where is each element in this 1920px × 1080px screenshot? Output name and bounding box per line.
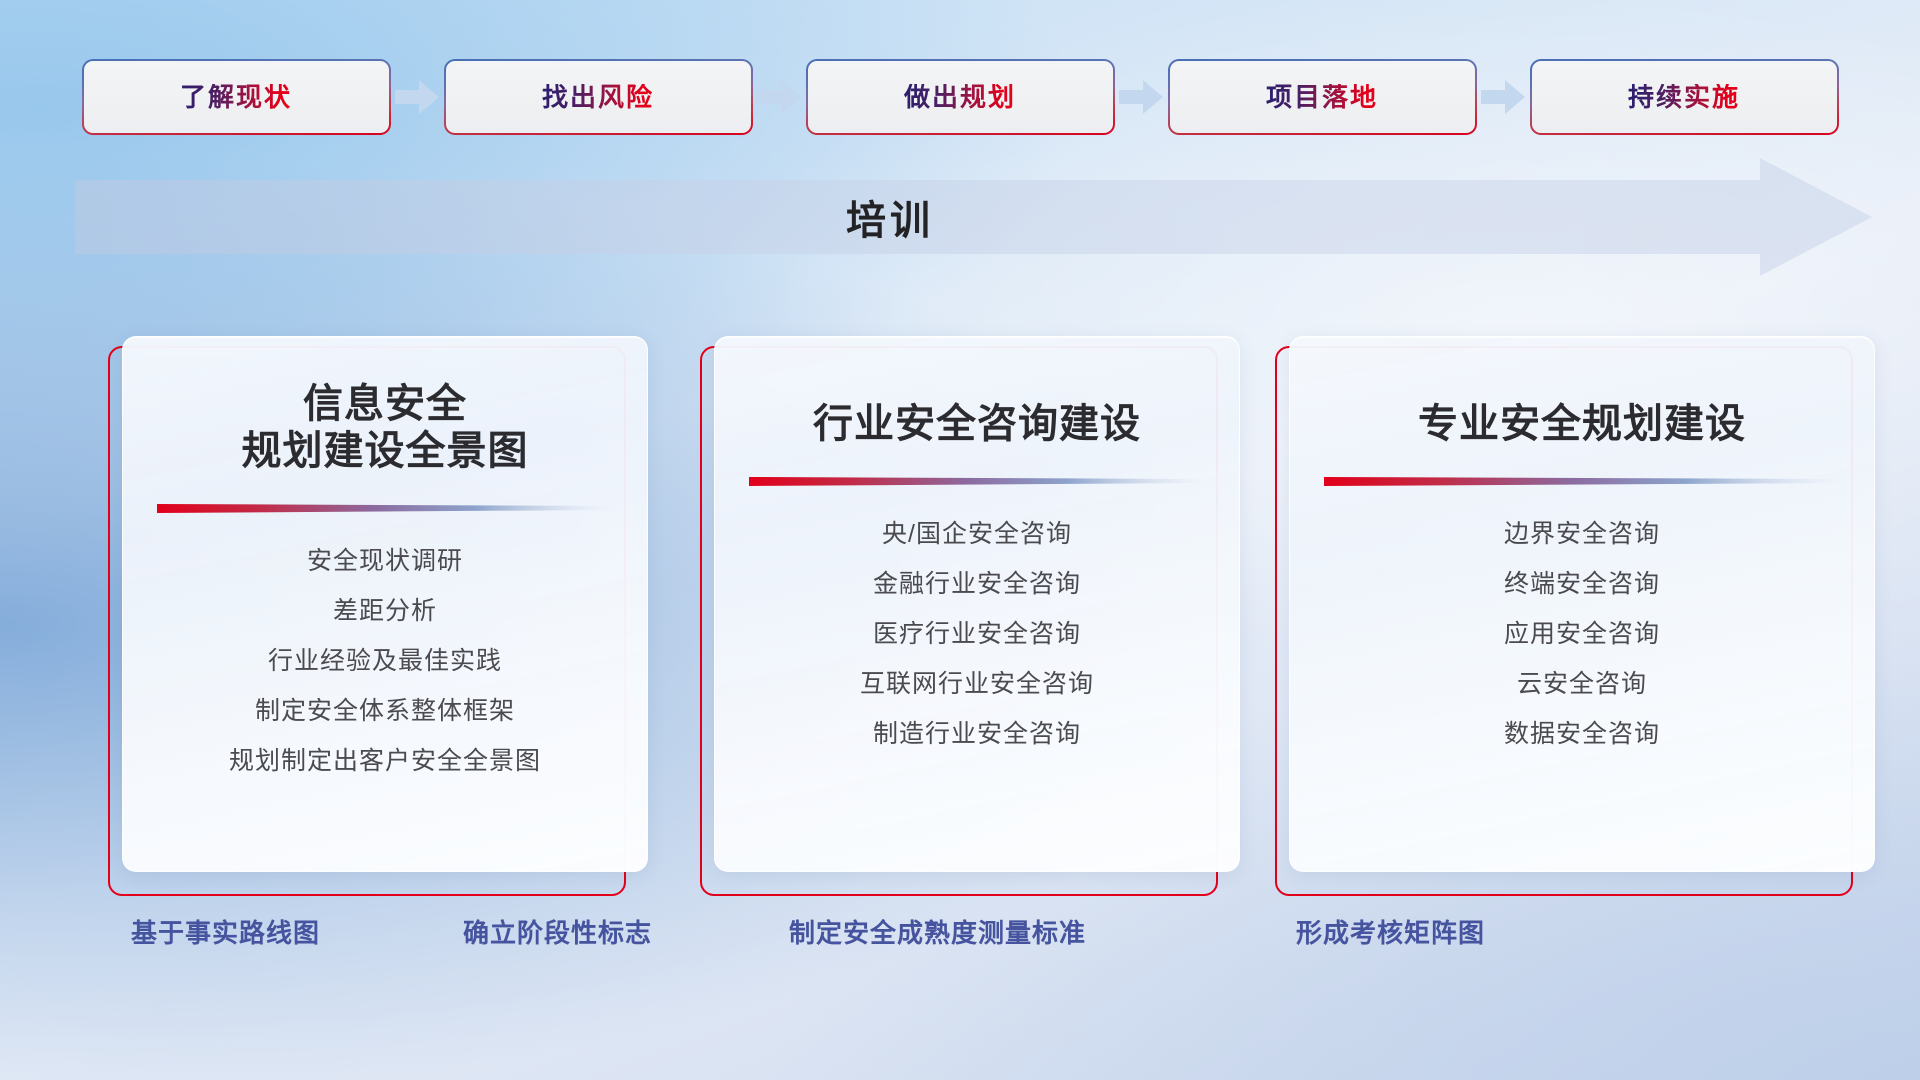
list-item: 差距分析: [147, 599, 623, 649]
training-banner: 培训: [0, 158, 1920, 276]
arrow-right-icon: [1475, 58, 1532, 136]
list-item: 规划制定出客户安全全景图: [147, 749, 623, 799]
card-row: 信息安全 规划建设全景图: [0, 336, 1920, 896]
gradient-wedge-divider: [749, 474, 1205, 492]
list-item: 制定安全体系整体框架: [147, 699, 623, 749]
list-item: 互联网行业安全咨询: [739, 672, 1215, 722]
list-item: 安全现状调研: [147, 549, 623, 599]
arrow-right-icon: [751, 58, 808, 136]
step-box-4[interactable]: 项目落地: [1170, 61, 1475, 133]
list-item: 应用安全咨询: [1314, 622, 1850, 672]
gradient-wedge-divider: [157, 501, 613, 519]
list-item: 金融行业安全咨询: [739, 572, 1215, 622]
card-item-list: 央/国企安全咨询 金融行业安全咨询 医疗行业安全咨询 互联网行业安全咨询 制造行…: [715, 492, 1239, 871]
card-professional-security-planning[interactable]: 专业安全规划建设: [1275, 336, 1875, 896]
arrow-right-icon: [1113, 58, 1170, 136]
card-item-list: 边界安全咨询 终端安全咨询 应用安全咨询 云安全咨询 数据安全咨询: [1290, 492, 1874, 871]
card-panel: 信息安全 规划建设全景图: [122, 336, 648, 872]
list-item: 央/国企安全咨询: [739, 522, 1215, 572]
card-title: 行业安全咨询建设: [715, 337, 1239, 448]
footnote-label: 基于事实路线图: [131, 920, 320, 946]
step-label: 持续实施: [1628, 84, 1740, 110]
footnote-label: 确立阶段性标志: [463, 920, 652, 946]
card-panel: 行业安全咨询建设: [714, 336, 1240, 872]
card-title: 信息安全 规划建设全景图: [123, 337, 647, 475]
footnote-label: 形成考核矩阵图: [1296, 920, 1485, 946]
list-item: 制造行业安全咨询: [739, 722, 1215, 772]
arrow-right-icon: [389, 58, 446, 136]
list-item: 终端安全咨询: [1314, 572, 1850, 622]
step-label: 找出风险: [542, 84, 654, 110]
step-label: 了解现状: [180, 84, 292, 110]
card-title: 专业安全规划建设: [1290, 337, 1874, 448]
card-industry-security-consulting[interactable]: 行业安全咨询建设: [700, 336, 1240, 896]
slide-canvas: 了解现状 找出风险 做出规划 项目落地 持续实施: [0, 0, 1920, 1080]
list-item: 医疗行业安全咨询: [739, 622, 1215, 672]
list-item: 行业经验及最佳实践: [147, 649, 623, 699]
process-step-row: 了解现状 找出风险 做出规划 项目落地 持续实施: [0, 58, 1920, 136]
footnote-row: 基于事实路线图 确立阶段性标志 制定安全成熟度测量标准 形成考核矩阵图: [0, 920, 1920, 980]
step-label: 项目落地: [1266, 84, 1378, 110]
card-information-security-blueprint[interactable]: 信息安全 规划建设全景图: [108, 336, 648, 896]
list-item: 数据安全咨询: [1314, 722, 1850, 772]
gradient-wedge-divider: [1324, 474, 1840, 492]
step-box-3[interactable]: 做出规划: [808, 61, 1113, 133]
step-box-5[interactable]: 持续实施: [1532, 61, 1837, 133]
banner-label: 培训: [0, 158, 1780, 276]
card-item-list: 安全现状调研 差距分析 行业经验及最佳实践 制定安全体系整体框架 规划制定出客户…: [123, 519, 647, 871]
footnote-label: 制定安全成熟度测量标准: [789, 920, 1086, 946]
step-label: 做出规划: [904, 84, 1016, 110]
step-box-2[interactable]: 找出风险: [446, 61, 751, 133]
step-box-1[interactable]: 了解现状: [84, 61, 389, 133]
card-panel: 专业安全规划建设: [1289, 336, 1875, 872]
list-item: 边界安全咨询: [1314, 522, 1850, 572]
list-item: 云安全咨询: [1314, 672, 1850, 722]
